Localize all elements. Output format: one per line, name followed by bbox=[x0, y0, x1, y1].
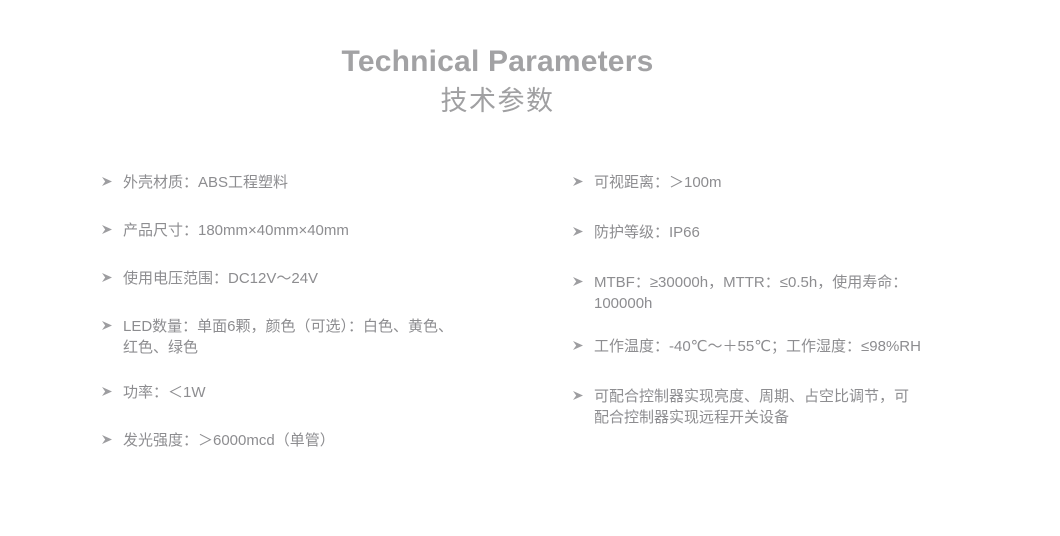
spec-item-mtbf-mttr-lifetime: MTBF：≥30000h，MTTR：≤0.5h，使用寿命： 100000h bbox=[572, 272, 1030, 314]
specs-column-left: 外壳材质：ABS工程塑料 产品尺寸：180mm×40mm×40mm 使用电压范围… bbox=[0, 172, 560, 451]
spec-item-housing-material: 外壳材质：ABS工程塑料 bbox=[101, 172, 548, 193]
spec-text: MTBF：≥30000h，MTTR：≤0.5h，使用寿命： 100000h bbox=[594, 272, 1030, 314]
spec-item-temperature-humidity: 工作温度：-40℃～＋55℃；工作湿度：≤98%RH bbox=[572, 336, 1030, 357]
arrow-bullet-icon bbox=[101, 220, 123, 235]
spec-item-led-quantity: LED数量：单面6颗，颜色（可选）：白色、黄色、 红色、绿色 bbox=[101, 316, 548, 358]
spec-text: 功率：＜1W bbox=[123, 382, 548, 403]
spec-item-voltage-range: 使用电压范围：DC12V～24V bbox=[101, 268, 548, 289]
arrow-bullet-icon bbox=[572, 386, 594, 401]
spec-text: 可配合控制器实现亮度、周期、占空比调节，可 配合控制器实现远程开关设备 bbox=[594, 386, 1030, 428]
spec-text: 外壳材质：ABS工程塑料 bbox=[123, 172, 548, 193]
page-title-chinese: 技术参数 bbox=[0, 85, 995, 117]
spec-text: 发光强度：＞6000mcd（单管） bbox=[123, 430, 548, 451]
arrow-bullet-icon bbox=[572, 336, 594, 351]
spec-text: LED数量：单面6颗，颜色（可选）：白色、黄色、 红色、绿色 bbox=[123, 316, 548, 358]
specs-columns: 外壳材质：ABS工程塑料 产品尺寸：180mm×40mm×40mm 使用电压范围… bbox=[0, 172, 1060, 451]
arrow-bullet-icon bbox=[101, 382, 123, 397]
spec-item-viewing-distance: 可视距离：＞100m bbox=[572, 172, 1030, 193]
spec-text: 防护等级：IP66 bbox=[594, 222, 1030, 243]
arrow-bullet-icon bbox=[572, 222, 594, 237]
spec-item-controller-features: 可配合控制器实现亮度、周期、占空比调节，可 配合控制器实现远程开关设备 bbox=[572, 386, 1030, 428]
arrow-bullet-icon bbox=[101, 172, 123, 187]
specs-column-right: 可视距离：＞100m 防护等级：IP66 MTBF：≥30000h，MTTR：≤… bbox=[560, 172, 1060, 450]
arrow-bullet-icon bbox=[572, 272, 594, 287]
arrow-bullet-icon bbox=[101, 316, 123, 331]
spec-item-product-size: 产品尺寸：180mm×40mm×40mm bbox=[101, 220, 548, 241]
spec-item-luminous-intensity: 发光强度：＞6000mcd（单管） bbox=[101, 430, 548, 451]
technical-parameters-page: Technical Parameters 技术参数 外壳材质：ABS工程塑料 bbox=[0, 0, 1060, 536]
arrow-bullet-icon bbox=[101, 430, 123, 445]
spec-text: 使用电压范围：DC12V～24V bbox=[123, 268, 548, 289]
title-block: Technical Parameters 技术参数 bbox=[0, 44, 995, 118]
arrow-bullet-icon bbox=[101, 268, 123, 283]
spec-item-power: 功率：＜1W bbox=[101, 382, 548, 403]
spec-item-protection-rating: 防护等级：IP66 bbox=[572, 222, 1030, 243]
spec-text: 产品尺寸：180mm×40mm×40mm bbox=[123, 220, 548, 241]
spec-text: 工作温度：-40℃～＋55℃；工作湿度：≤98%RH bbox=[594, 336, 1030, 357]
arrow-bullet-icon bbox=[572, 172, 594, 187]
page-title-english: Technical Parameters bbox=[0, 44, 995, 79]
spec-text: 可视距离：＞100m bbox=[594, 172, 1030, 193]
